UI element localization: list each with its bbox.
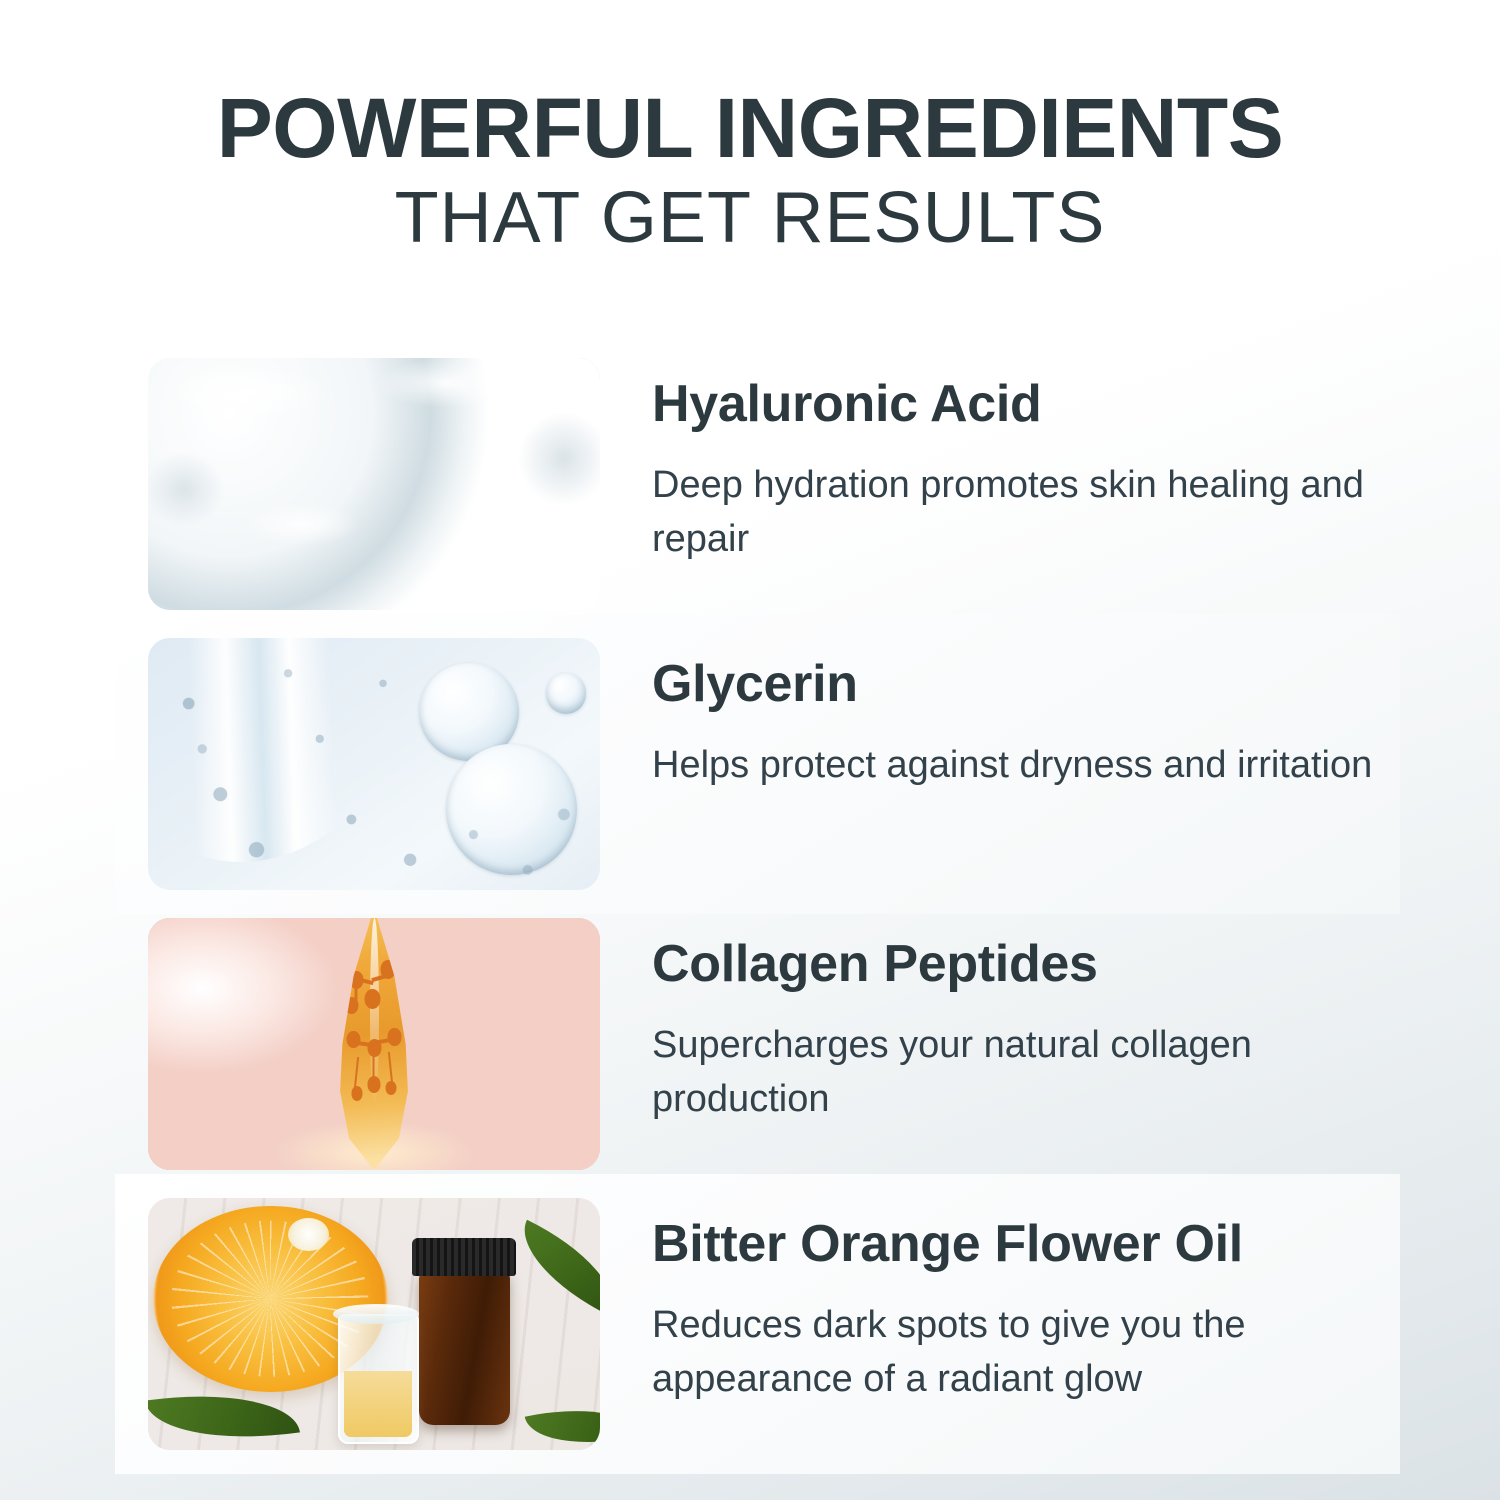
list-item: Collagen Peptides Supercharges your natu… xyxy=(0,918,1500,1170)
ingredients-infographic: POWERFUL INGREDIENTS THAT GET RESULTS Hy… xyxy=(0,0,1500,1500)
vial-neck xyxy=(333,1304,419,1324)
molecule-bond xyxy=(355,987,357,1003)
gel-dropper-icon xyxy=(148,638,600,890)
molecule-bond xyxy=(354,1057,359,1088)
molecule-node-icon xyxy=(351,1086,362,1100)
ingredient-list: Hyaluronic Acid Deep hydration promotes … xyxy=(0,358,1500,1478)
ingredient-thumbnail xyxy=(148,1198,600,1450)
page-title-line-1: POWERFUL INGREDIENTS xyxy=(0,86,1500,172)
ingredient-thumbnail xyxy=(148,918,600,1170)
ingredient-text: Hyaluronic Acid Deep hydration promotes … xyxy=(652,358,1500,567)
ingredient-name: Collagen Peptides xyxy=(652,936,1500,993)
ingredient-name: Glycerin xyxy=(652,656,1500,713)
ingredient-text: Collagen Peptides Supercharges your natu… xyxy=(652,918,1500,1127)
amber-droplet-icon xyxy=(148,918,600,1170)
list-item: Bitter Orange Flower Oil Reduces dark sp… xyxy=(0,1198,1500,1450)
ingredient-text: Glycerin Helps protect against dryness a… xyxy=(652,638,1500,793)
glass-vial-icon xyxy=(338,1314,419,1444)
list-item: Hyaluronic Acid Deep hydration promotes … xyxy=(0,358,1500,610)
orange-core xyxy=(288,1218,329,1251)
ingredient-name: Hyaluronic Acid xyxy=(652,376,1500,433)
ingredient-description: Helps protect against dryness and irrita… xyxy=(652,739,1412,793)
ingredient-description: Deep hydration promotes skin healing and… xyxy=(652,459,1412,567)
molecule-bond xyxy=(388,1052,393,1083)
molecule-bond xyxy=(373,1052,375,1081)
clear-spheres-icon xyxy=(148,358,600,610)
ingredient-description: Supercharges your natural collagen produ… xyxy=(652,1019,1412,1127)
page-title-line-2: THAT GET RESULTS xyxy=(0,180,1500,256)
ingredient-text: Bitter Orange Flower Oil Reduces dark sp… xyxy=(652,1198,1500,1407)
micro-bubbles xyxy=(148,638,600,890)
page-title: POWERFUL INGREDIENTS THAT GET RESULTS xyxy=(0,86,1500,256)
ingredient-thumbnail xyxy=(148,638,600,890)
ingredient-name: Bitter Orange Flower Oil xyxy=(652,1216,1500,1273)
molecule-node-icon xyxy=(347,1031,361,1048)
orange-oil-icon xyxy=(148,1198,600,1450)
ingredient-thumbnail xyxy=(148,358,600,610)
amber-bottle-icon xyxy=(419,1269,509,1425)
bottle-cap-icon xyxy=(412,1238,516,1276)
ingredient-description: Reduces dark spots to give you the appea… xyxy=(652,1299,1412,1407)
list-item: Glycerin Helps protect against dryness a… xyxy=(0,638,1500,890)
